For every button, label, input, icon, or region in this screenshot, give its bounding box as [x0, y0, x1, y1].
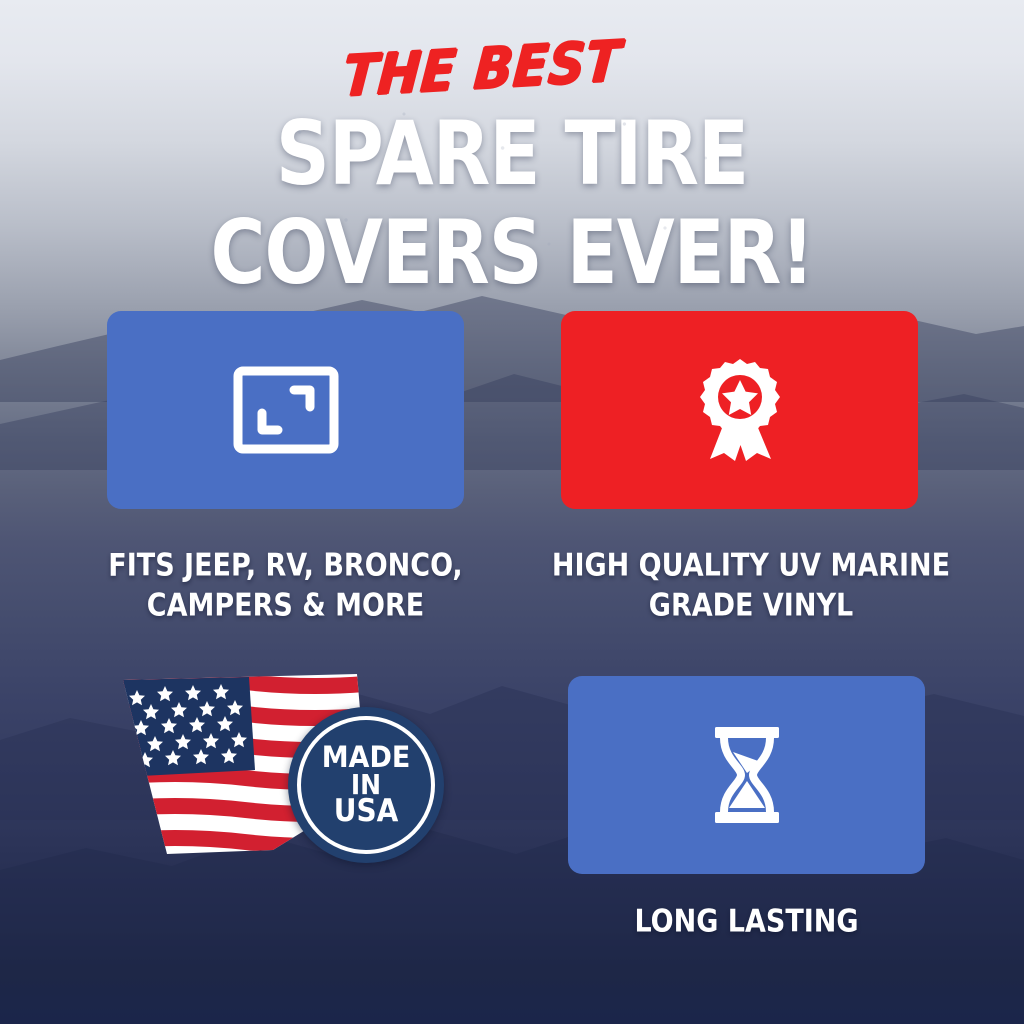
made-in-usa-group: MADE IN USA: [105, 672, 450, 872]
headline-kicker: THE BEST: [341, 33, 623, 105]
headline-line-2: COVERS EVER!: [0, 211, 1024, 295]
caption-lasting: LONG LASTING: [568, 903, 925, 942]
feature-card-lasting: [568, 676, 925, 874]
headline-block: THE BEST SPARE TIRE COVERS EVER!: [0, 44, 1024, 280]
promo-poster: THE BEST SPARE TIRE COVERS EVER!: [0, 0, 1024, 1024]
hourglass-icon: [711, 725, 783, 825]
made-in-usa-badge: MADE IN USA: [288, 707, 444, 863]
award-ribbon-icon: [694, 357, 786, 463]
headline-line-1: SPARE TIRE: [0, 112, 1024, 196]
caption-fit: FITS JEEP, RV, BRONCO, CAMPERS & MORE: [57, 547, 514, 626]
feature-card-quality: [561, 311, 918, 509]
badge-line-usa: USA: [334, 796, 399, 827]
caption-quality: HIGH QUALITY UV MARINE GRADE VINYL: [551, 547, 951, 626]
resize-frame-icon: [232, 365, 340, 455]
feature-card-fit: [107, 311, 464, 509]
